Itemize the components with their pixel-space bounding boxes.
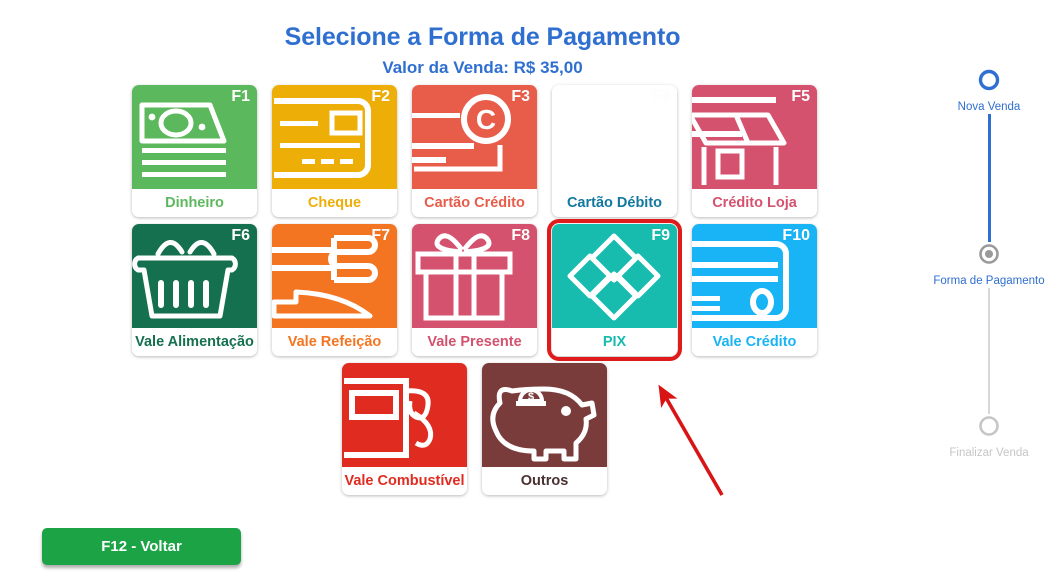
svg-text:C: C [476,104,496,135]
cheque-icon: F2 [272,85,397,189]
payment-tile-cart-o-d-bito[interactable]: D F4 Cartão Débito [552,85,677,217]
payment-selection-screen: Selecione a Forma de Pagamento Valor da … [0,0,1053,583]
card-icon: F10 [692,224,817,328]
shortcut-key-label: F2 [371,88,390,106]
shortcut-key-label: F7 [371,227,390,245]
step-label-forma-pagamento: Forma de Pagamento [925,274,1053,288]
step-circle-inactive-icon [925,414,1053,443]
payment-row-1: F1 Dinheiro F2 Cheque C [132,85,832,217]
payment-tile-label: Vale Combustível [342,467,467,495]
page-title: Selecione a Forma de Pagamento [0,22,965,52]
payment-tile-vale-presente[interactable]: F8 Vale Presente [412,224,537,356]
payment-tile-label: Outros [482,467,607,495]
payment-tile-cheque[interactable]: F2 Cheque [272,85,397,217]
payment-tile-label: Cartão Crédito [412,189,537,217]
basket-icon: F6 [132,224,257,328]
payment-tile-label: Vale Alimentação [132,328,257,356]
payment-tile-label: Cheque [272,189,397,217]
shortcut-key-label: F5 [791,88,810,106]
payment-tile-label: Cartão Débito [552,189,677,217]
fuel-pump-icon [342,363,467,467]
payment-tile-label: Vale Refeição [272,328,397,356]
shortcut-key-label: F3 [511,88,530,106]
payment-tile-pix[interactable]: F9 PIX [552,224,677,356]
storefront-icon: F5 [692,85,817,189]
banknote-icon: F1 [132,85,257,189]
step-label-finalizar-venda: Finalizar Venda [925,446,1053,460]
step-connector-1 [988,114,991,242]
back-button[interactable]: F12 - Voltar [42,528,241,565]
payment-method-grid: F1 Dinheiro F2 Cheque C [132,85,832,502]
payment-tile-label: Vale Presente [412,328,537,356]
payment-tile-vale-refei-o[interactable]: F7 Vale Refeição [272,224,397,356]
payment-tile-label: PIX [552,328,677,356]
step-nova-venda[interactable]: Nova Venda [925,68,1053,114]
pix-icon: F9 [552,224,677,328]
svg-text:$: $ [528,391,534,403]
credit-card-icon: C F3 [412,85,537,189]
payment-tile-outros[interactable]: $ Outros [482,363,607,495]
progress-stepper: Nova Venda Forma de Pagamento Finalizar … [925,68,1053,460]
sale-amount: Valor da Venda: R$ 35,00 [0,57,965,78]
shortcut-key-label: F1 [231,88,250,106]
step-connector-2 [988,288,990,414]
cutlery-icon: F7 [272,224,397,328]
payment-row-2: F6 Vale Alimentação F7 Vale Refeição F8 [132,224,832,356]
shortcut-key-label: F4 [651,88,670,106]
shortcut-key-label: F6 [231,227,250,245]
payment-tile-cr-dito-loja[interactable]: F5 Crédito Loja [692,85,817,217]
step-label-nova-venda: Nova Venda [925,100,1053,114]
payment-tile-cart-o-cr-dito[interactable]: C F3 Cartão Crédito [412,85,537,217]
debit-card-icon: D F4 [552,85,677,189]
piggy-bank-icon: $ [482,363,607,467]
step-circle-complete-icon [925,68,1053,97]
step-forma-pagamento[interactable]: Forma de Pagamento [925,242,1053,288]
payment-tile-label: Crédito Loja [692,189,817,217]
shortcut-key-label: F10 [782,227,810,245]
payment-row-3: Vale Combustível $ Outros [342,363,832,495]
step-finalizar-venda[interactable]: Finalizar Venda [925,414,1053,460]
shortcut-key-label: F8 [511,227,530,245]
payment-tile-label: Dinheiro [132,189,257,217]
payment-tile-vale-combust-vel[interactable]: Vale Combustível [342,363,467,495]
shortcut-key-label: F9 [651,227,670,245]
payment-tile-label: Vale Crédito [692,328,817,356]
svg-text:D: D [616,104,636,135]
header: Selecione a Forma de Pagamento Valor da … [0,22,965,78]
payment-tile-vale-alimenta-o[interactable]: F6 Vale Alimentação [132,224,257,356]
payment-tile-vale-cr-dito[interactable]: F10 Vale Crédito [692,224,817,356]
step-circle-current-icon [925,242,1053,271]
payment-tile-dinheiro[interactable]: F1 Dinheiro [132,85,257,217]
gift-icon: F8 [412,224,537,328]
